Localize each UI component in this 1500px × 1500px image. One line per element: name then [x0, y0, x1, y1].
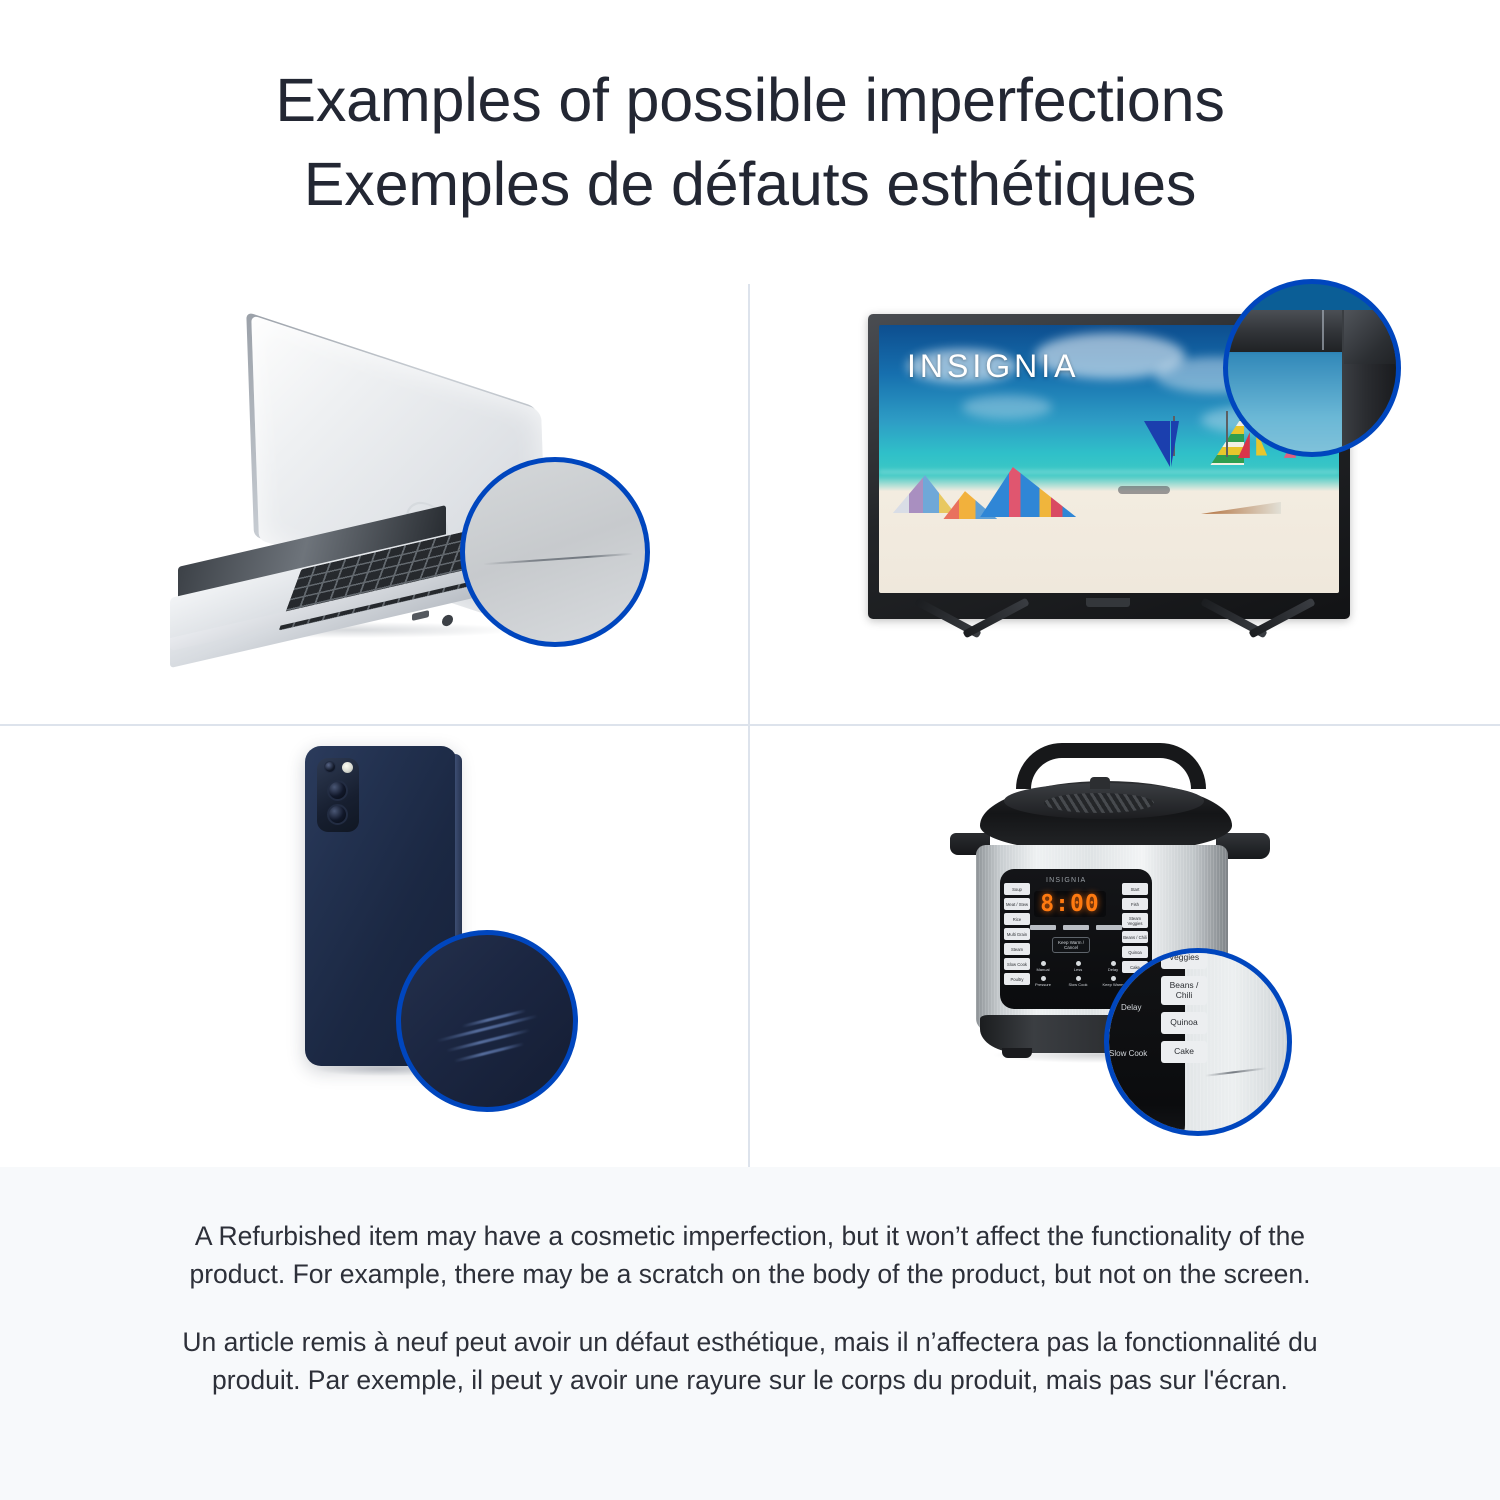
pc-small-button-label: Less	[1074, 967, 1082, 972]
cloud-shape	[962, 395, 1052, 419]
television-ir-sensor-icon	[1086, 598, 1130, 607]
pc-small-button-label: Slow Cook	[1068, 982, 1087, 987]
pc-small-button[interactable]: Manual	[1028, 961, 1058, 972]
pc-button[interactable]: Steam	[1004, 943, 1030, 955]
boat-shape	[1201, 502, 1281, 514]
pc-button[interactable]: Meat / Stew	[1004, 898, 1030, 910]
level-indicator	[1063, 925, 1089, 930]
level-indicator	[1096, 925, 1122, 930]
sail-shape	[1171, 421, 1179, 467]
pressure-cooker-display-value: 8:00	[1040, 891, 1099, 917]
sail-shape	[1144, 421, 1170, 467]
pc-magnified-button[interactable]: Quinoa	[1161, 1012, 1207, 1034]
pressure-cooker-cancel-button[interactable]: Keep Warm / Cancel	[1052, 937, 1090, 953]
laptop-usb-port-icon	[412, 610, 429, 621]
magnifier-television-bezel	[1223, 279, 1401, 457]
pc-button[interactable]: Beans / Chili	[1122, 931, 1148, 943]
indicator-dot-icon	[1041, 961, 1046, 966]
pressure-cooker-left-button-column: Soup Meat / Stew Rice Multi Grain Steam …	[1004, 883, 1030, 985]
magnifier-pressure-cooker-scratch: Delay Slow Cook Veggies Beans / Chili Qu…	[1104, 948, 1292, 1136]
indicator-dot-icon	[1076, 976, 1081, 981]
pressure-cooker-display: 8:00	[1034, 891, 1106, 917]
pc-magnified-button-column: Veggies Beans / Chili Quinoa Cake	[1161, 948, 1207, 1063]
pc-magnified-button[interactable]: Beans / Chili	[1161, 976, 1207, 1005]
boat-shape	[1118, 486, 1170, 494]
pc-button[interactable]: Start	[1122, 883, 1148, 895]
camera-flash-icon	[342, 762, 353, 773]
cell-smartphone	[0, 726, 748, 1166]
page-title-french: Exemples de défauts esthétiques	[0, 142, 1500, 226]
scratch-mark	[446, 1029, 530, 1052]
tent-shape	[893, 475, 955, 513]
pc-small-button-label: Manual	[1036, 967, 1049, 972]
pc-magnified-left-label: Delay	[1121, 1003, 1141, 1012]
pc-magnified-left-label: Slow Cook	[1109, 1049, 1147, 1058]
page-title: Examples of possible imperfections Exemp…	[0, 58, 1500, 226]
magnified-screen-area	[1223, 350, 1346, 457]
level-indicator	[1030, 925, 1056, 930]
pc-button[interactable]: Fish	[1122, 898, 1148, 910]
pc-button[interactable]: Rice	[1004, 913, 1030, 925]
magnifier-smartphone-scratches	[396, 930, 578, 1112]
pc-button[interactable]: Soup	[1004, 883, 1030, 895]
pc-small-button[interactable]: Less	[1063, 961, 1093, 972]
pc-button[interactable]: Multi Grain	[1004, 928, 1030, 940]
disclaimer-french: Un article remis à neuf peut avoir un dé…	[180, 1323, 1320, 1399]
television-brand-text: INSIGNIA	[907, 348, 1079, 385]
pc-button[interactable]: Steam Veggies	[1122, 913, 1148, 928]
indicator-dot-icon	[1041, 976, 1046, 981]
magnifier-laptop-scratch	[460, 457, 650, 647]
pressure-cooker-steam-valve-icon	[1090, 777, 1110, 789]
pressure-cooker-foot	[1002, 1048, 1032, 1058]
disclaimer-english: A Refurbished item may have a cosmetic i…	[180, 1217, 1320, 1293]
bezel-seam-mark	[1322, 310, 1324, 350]
pc-small-button[interactable]: Slow Cook	[1063, 976, 1093, 987]
pc-button[interactable]: Slow Cook	[1004, 958, 1030, 970]
camera-lens-icon	[327, 780, 348, 801]
disclaimer-panel: A Refurbished item may have a cosmetic i…	[0, 1167, 1500, 1500]
refurbished-imperfections-page: Examples of possible imperfections Exemp…	[0, 0, 1500, 1500]
magnified-bezel-corner	[1344, 310, 1401, 364]
page-title-english: Examples of possible imperfections	[0, 58, 1500, 142]
pc-small-button-label: Pressure	[1035, 982, 1051, 987]
tent-shape	[980, 467, 1076, 517]
pressure-cooker-level-indicators	[1030, 925, 1122, 930]
horizon-line	[879, 470, 1339, 474]
smartphone-camera-module-icon	[317, 758, 359, 832]
indicator-dot-icon	[1076, 961, 1081, 966]
pc-small-button[interactable]: Pressure	[1028, 976, 1058, 987]
pc-magnified-button[interactable]: Cake	[1161, 1041, 1207, 1063]
pressure-cooker-lid-vent-icon	[1044, 793, 1154, 813]
scratch-mark	[483, 553, 633, 565]
camera-lens-icon	[324, 761, 336, 773]
pc-button[interactable]: Poultry	[1004, 973, 1030, 985]
pressure-cooker-brand-text: INSIGNIA	[1046, 877, 1086, 884]
camera-lens-icon	[327, 804, 348, 825]
